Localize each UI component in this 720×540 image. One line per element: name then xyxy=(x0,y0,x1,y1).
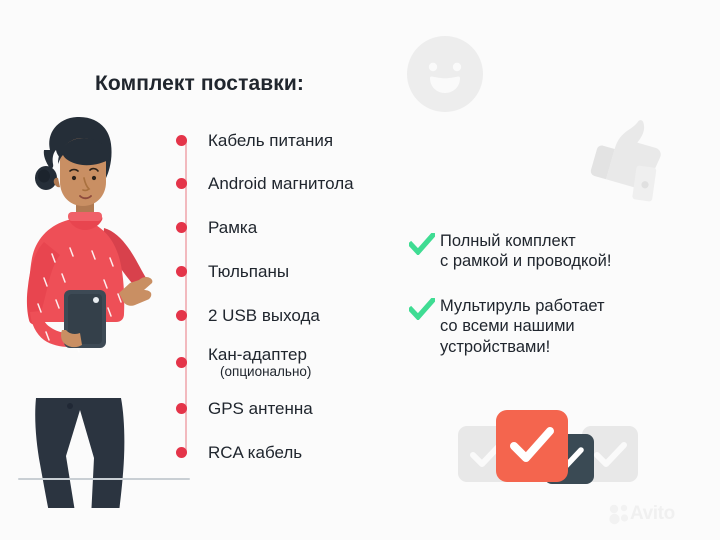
list-item: Android магнитола xyxy=(176,175,354,193)
bullet-dot-icon xyxy=(176,178,187,189)
list-item-label: Кан-адаптер (опционально) xyxy=(208,346,311,379)
list-item-label: GPS антенна xyxy=(208,400,313,418)
woman-illustration xyxy=(8,108,180,508)
bullet-dot-icon xyxy=(176,135,187,146)
ground-line xyxy=(18,478,190,480)
checkbox-coral xyxy=(496,410,568,482)
bullet-dot-icon xyxy=(176,403,187,414)
bullet-dot-icon xyxy=(176,357,187,368)
feature-text: Мультируль работает со всеми нашими устр… xyxy=(440,296,605,357)
list-item: GPS антенна xyxy=(176,400,313,418)
list-item-subtitle: (опционально) xyxy=(220,365,311,379)
list-item-label: 2 USB выхода xyxy=(208,307,320,325)
list-item: Кабель питания xyxy=(176,132,333,150)
thumbs-up-icon xyxy=(572,108,676,212)
list-item-label: Рамка xyxy=(208,219,257,237)
list-item: Тюльпаны xyxy=(176,263,289,281)
list-item-label: Тюльпаны xyxy=(208,263,289,281)
bullet-dot-icon xyxy=(176,310,187,321)
poster-canvas: Комплект поставки: Кабель питания Androi… xyxy=(0,0,720,540)
green-check-icon xyxy=(409,298,435,320)
list-item-title: Кан-адаптер xyxy=(208,345,307,364)
list-item: RCA кабель xyxy=(176,444,302,462)
bullet-dot-icon xyxy=(176,266,187,277)
list-item: Кан-адаптер (опционально) xyxy=(176,346,311,379)
feature-item: Мультируль работает со всеми нашими устр… xyxy=(409,296,605,357)
list-item: Рамка xyxy=(176,219,257,237)
green-check-icon xyxy=(409,233,435,255)
page-title: Комплект поставки: xyxy=(95,72,304,96)
list-item: 2 USB выхода xyxy=(176,307,320,325)
smiley-face-icon xyxy=(405,34,485,114)
list-item-label: RCA кабель xyxy=(208,444,302,462)
feature-item: Полный комплект с рамкой и проводкой! xyxy=(409,231,611,272)
spec-list: Кабель питания Android магнитола Рамка Т… xyxy=(176,132,426,457)
avito-watermark: Avito xyxy=(608,500,708,528)
checkbox-decoration-group xyxy=(458,406,638,494)
list-item-label: Android магнитола xyxy=(208,175,354,193)
feature-text: Полный комплект с рамкой и проводкой! xyxy=(440,231,611,272)
bullet-dot-icon xyxy=(176,447,187,458)
avito-logo-icon xyxy=(608,503,630,525)
avito-watermark-label: Avito xyxy=(630,503,675,525)
list-item-label: Кабель питания xyxy=(208,132,333,150)
bullet-dot-icon xyxy=(176,222,187,233)
